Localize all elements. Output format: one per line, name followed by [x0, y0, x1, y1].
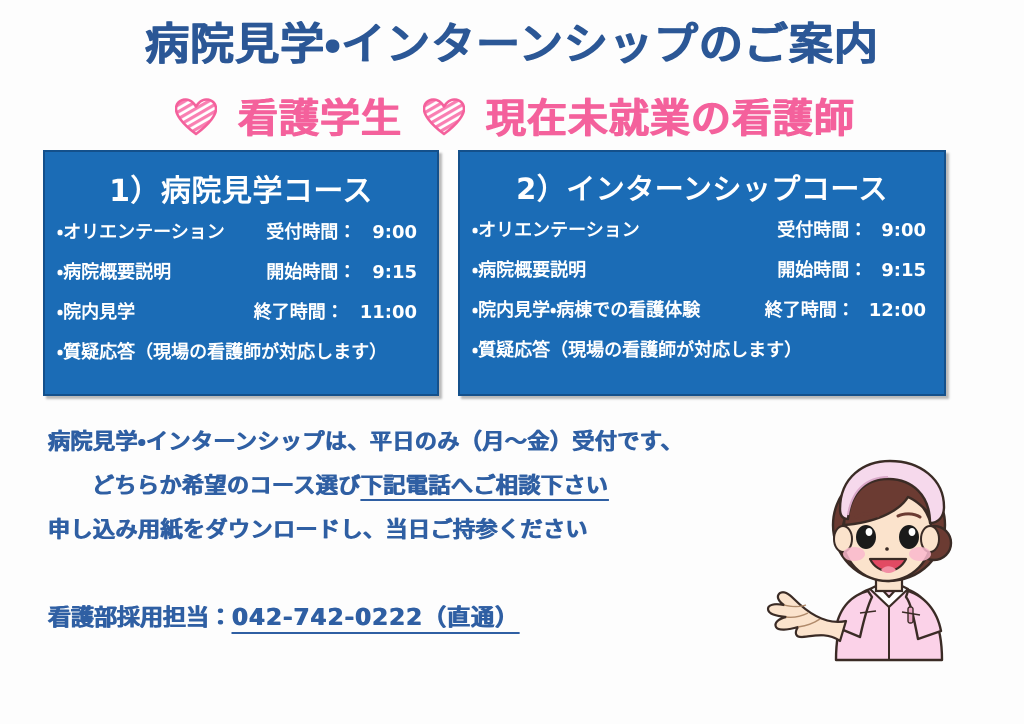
schedule-time-value: 9:00	[873, 220, 932, 241]
nurse-illustration	[748, 455, 1024, 685]
schedule-time-value: 11:00	[352, 302, 425, 323]
schedule-time-value: 9:00	[364, 222, 425, 243]
body-line-choose-course: どちらか希望のコース選び下記電話へご相談下さい	[92, 468, 608, 500]
schedule-item: ・院内見学	[57, 298, 135, 324]
contact-line: 看護部採用担当：042-742-0222（直通）	[48, 598, 519, 632]
schedule-row: ・病院概要説明 開始時間： 9:15	[57, 258, 425, 284]
contact-label: 看護部採用担当：	[48, 605, 232, 631]
body-line-download-form: 申し込み用紙をダウンロードし、当日ご持参ください	[48, 512, 588, 544]
body-line-call-link: 下記電話へご相談下さい	[361, 474, 609, 499]
schedule-item: ・オリエンテーション	[472, 216, 640, 242]
schedule-time-label: 終了時間：	[254, 298, 352, 324]
course-box-hospital-tour: 1）病院見学コース ・オリエンテーション 受付時間： 9:00 ・病院概要説明 …	[43, 150, 439, 396]
schedule-item: ・病院概要説明	[472, 256, 586, 282]
page-title: 病院見学・インターンシップのご案内	[0, 8, 1024, 72]
course-heading: 1）病院見学コース	[45, 166, 437, 210]
heart-icon	[423, 98, 465, 136]
schedule-row: ・オリエンテーション 受付時間： 9:00	[57, 218, 425, 244]
schedule-row: ・病院概要説明 開始時間： 9:15	[472, 256, 932, 282]
subtitle: 看護学生 現在未就業の看護師	[0, 86, 1024, 144]
subtitle-text-nurses: 現在未就業の看護師	[486, 96, 855, 142]
poster-root: 病院見学・インターンシップのご案内 看護学生 現在未就業の看護師 1）病院見学	[0, 0, 1024, 724]
course-schedule-list: ・オリエンテーション 受付時間： 9:00 ・病院概要説明 開始時間： 9:15…	[45, 218, 437, 364]
schedule-row: ・院内見学・病棟での看護体験 終了時間： 12:00	[472, 296, 932, 322]
schedule-row: ・院内見学 終了時間： 11:00	[57, 298, 425, 324]
schedule-time-label: 開始時間：	[777, 256, 873, 282]
course-heading: 2）インターンシップコース	[460, 166, 944, 208]
schedule-time-value: 9:15	[364, 262, 425, 283]
heart-icon	[175, 98, 217, 136]
schedule-item: ・病院概要説明	[57, 258, 171, 284]
contact-phone-number[interactable]: 042-742-0222（直通）	[232, 605, 519, 631]
schedule-row: ・オリエンテーション 受付時間： 9:00	[472, 216, 932, 242]
schedule-item: ・院内見学・病棟での看護体験	[472, 296, 700, 322]
body-line-choose-course-plain: どちらか希望のコース選び	[92, 474, 361, 499]
schedule-time-label: 受付時間：	[777, 216, 873, 242]
subtitle-text-students: 看護学生	[238, 96, 402, 142]
schedule-time-label: 受付時間：	[266, 218, 364, 244]
course-box-internship: 2）インターンシップコース ・オリエンテーション 受付時間： 9:00 ・病院概…	[458, 150, 946, 396]
schedule-time-value: 12:00	[861, 300, 932, 321]
schedule-item: ・オリエンテーション	[57, 218, 225, 244]
body-line-weekday-notice: 病院見学・インターンシップは、平日のみ（月～金）受付です、	[48, 424, 683, 456]
schedule-time-value: 9:15	[873, 260, 932, 281]
course-note: ・質疑応答（現場の看護師が対応します）	[57, 338, 425, 364]
schedule-time-label: 開始時間：	[266, 258, 364, 284]
course-schedule-list: ・オリエンテーション 受付時間： 9:00 ・病院概要説明 開始時間： 9:15…	[460, 216, 944, 362]
schedule-time-label: 終了時間：	[765, 296, 861, 322]
course-note: ・質疑応答（現場の看護師が対応します）	[472, 336, 932, 362]
